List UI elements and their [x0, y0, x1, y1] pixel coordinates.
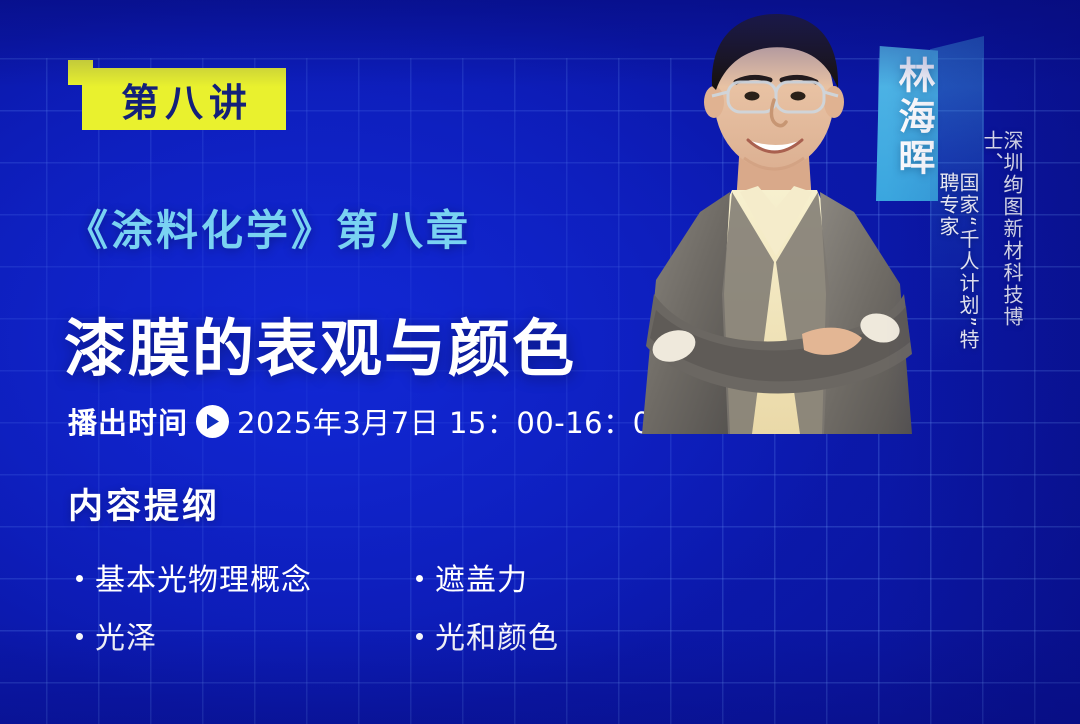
lesson-badge: 第八讲 — [82, 68, 286, 130]
outline-item-label: 光和颜色 — [435, 613, 559, 657]
outline-item-label: 光泽 — [95, 613, 157, 657]
course-subtitle: 《涂料化学》第八章 — [66, 197, 471, 258]
outline-heading: 内容提纲 — [68, 478, 220, 529]
outline-list: 基本光物理概念 遮盖力 光泽 光和颜色 — [76, 548, 696, 664]
airtime-value: 2025年3月7日 15：00-16：00 — [237, 400, 671, 442]
speaker-credentials: 国家“千人计划”特聘专家 深圳绚图新材科技博士、 — [938, 130, 1022, 362]
list-item: 遮盖力 — [416, 555, 716, 599]
airtime-row: 播出时间 2025年3月7日 15：00-16：00 — [68, 400, 671, 442]
airtime-label: 播出时间 — [68, 400, 188, 442]
play-icon[interactable] — [196, 405, 229, 438]
speaker-credential-line: 深圳绚图新材科技博士、 — [982, 130, 1022, 362]
bullet-dot-icon — [416, 575, 423, 582]
list-item: 光和颜色 — [416, 613, 716, 657]
bullet-dot-icon — [76, 633, 83, 640]
speaker-name: 林海晖 — [878, 56, 936, 179]
list-item: 光泽 — [76, 613, 416, 657]
list-item: 基本光物理概念 — [76, 555, 416, 599]
outline-item-label: 基本光物理概念 — [95, 555, 312, 599]
bullet-dot-icon — [76, 575, 83, 582]
page-title: 漆膜的表观与颜色 — [64, 298, 576, 388]
lesson-badge-label: 第八讲 — [115, 72, 253, 127]
course-promo-poster: 第八讲 《涂料化学》第八章 漆膜的表观与颜色 播出时间 2025年3月7日 15… — [0, 0, 1080, 724]
bullet-dot-icon — [416, 633, 423, 640]
outline-item-label: 遮盖力 — [435, 555, 528, 599]
speaker-credential-line: 国家“千人计划”特聘专家 — [938, 172, 978, 362]
